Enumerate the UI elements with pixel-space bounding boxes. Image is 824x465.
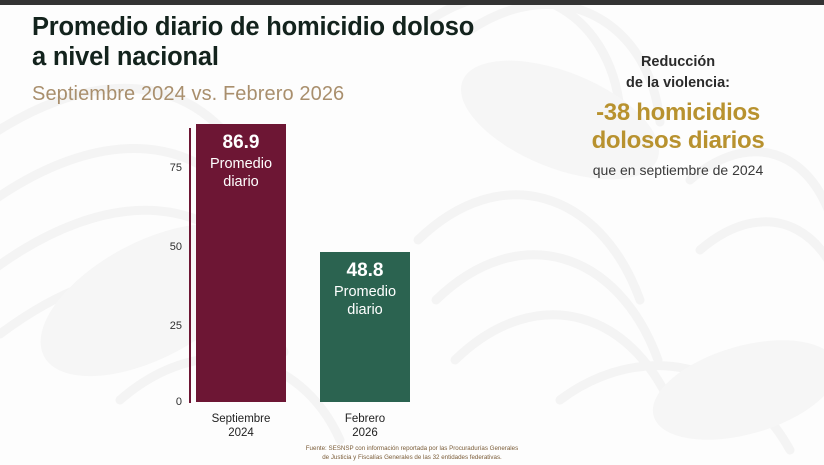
y-tick-25: 25 <box>148 320 182 332</box>
y-axis-line <box>189 128 191 403</box>
source-footnote: Fuente: SESNSP con información reportada… <box>0 444 824 463</box>
bar-value-septiembre-2024: 86.9 <box>196 133 286 154</box>
y-tick-0: 0 <box>148 396 182 408</box>
bar-septiembre-2024[interactable]: 86.9 Promedio diario <box>196 124 286 402</box>
bar-chart: 75 50 25 0 86.9 Promedio diario 48.8 Pro… <box>0 0 470 465</box>
source-footnote-line-2: de Justicia y Fiscalías Generales de las… <box>322 454 502 461</box>
callout-highlight-line-2: dolosos diarios <box>592 127 765 154</box>
y-tick-50: 50 <box>148 241 182 253</box>
bar-sublabel-line-2: diario <box>347 302 382 318</box>
category-label-septiembre-2024: Septiembre 2024 <box>186 412 296 440</box>
bar-value-febrero-2026: 48.8 <box>320 261 410 282</box>
callout-lead: Reducción de la violencia: <box>536 52 820 93</box>
bar-sublabel-line-2: diario <box>223 174 258 190</box>
reduction-callout: Reducción de la violencia: -38 homicidio… <box>536 52 820 178</box>
bar-sublabel-septiembre-2024: Promedio diario <box>196 156 286 191</box>
bar-febrero-2026[interactable]: 48.8 Promedio diario <box>320 252 410 402</box>
category-label-line-2: 2024 <box>228 427 254 439</box>
y-tick-75: 75 <box>148 162 182 174</box>
category-label-line-2: 2026 <box>352 427 378 439</box>
bar-sublabel-line-1: Promedio <box>210 156 272 172</box>
category-label-line-1: Febrero <box>345 413 385 425</box>
bar-sublabel-line-1: Promedio <box>334 284 396 300</box>
callout-highlight: -38 homicidios dolosos diarios <box>536 99 820 155</box>
callout-highlight-line-1: -38 homicidios <box>596 99 760 126</box>
bar-sublabel-febrero-2026: Promedio diario <box>320 284 410 319</box>
callout-lead-line-1: Reducción <box>641 54 715 70</box>
callout-tail: que en septiembre de 2024 <box>536 162 820 178</box>
category-label-line-1: Septiembre <box>212 413 271 425</box>
callout-lead-line-2: de la violencia: <box>626 75 730 91</box>
slide-root: Promedio diario de homicidio doloso a ni… <box>0 0 824 465</box>
category-label-febrero-2026: Febrero 2026 <box>310 412 420 440</box>
source-footnote-line-1: Fuente: SESNSP con información reportada… <box>306 445 518 452</box>
